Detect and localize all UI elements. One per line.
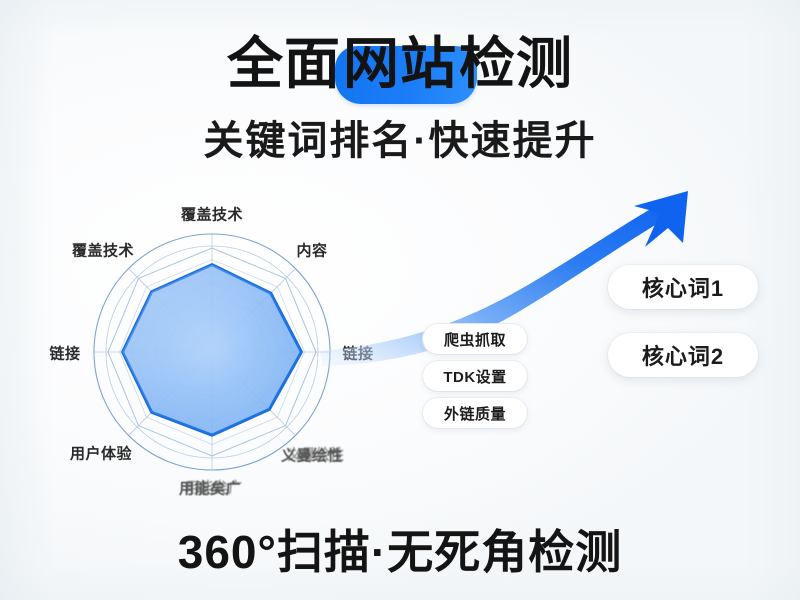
pill-label: 爬虫抓取 [444,329,506,350]
radar-axis-label: 义曼绘性义曼绘性 [281,447,343,466]
radar-axis-label-ghost: 义曼绘性 [287,446,344,465]
title-part-after: 检测 [459,32,573,95]
title-part-highlighted: 网站 [341,32,459,95]
radar-axis-label: 覆盖技术 [181,206,243,225]
feature-pill[interactable]: TDK设置 [423,361,527,391]
radar-chart: 覆盖技术内容链接义曼绘性义曼绘性用能矣广用能矣广用户体验链接覆盖技术 [10,190,430,510]
poster-canvas: 全面网站检测 关键词排名·快速提升 覆盖 [0,0,800,600]
feature-pill[interactable]: 外链质量 [423,398,527,428]
page-subtitle: 关键词排名·快速提升 [203,114,596,168]
radar-axis-label-ghost: 用能矣广 [185,479,242,498]
pill-label: 核心词2 [642,339,724,371]
keyword-pill[interactable]: 核心词2 [608,333,758,377]
pill-label: TDK设置 [443,366,506,387]
footer-tagline: 360°扫描·无死角检测 [178,522,622,582]
keyword-pill[interactable]: 核心词1 [608,265,758,309]
headline-container: 全面网站检测 [0,28,800,100]
title-part-before: 全面 [227,32,341,95]
radar-axis-label: 链接 [342,345,373,364]
radar-axis-label: 内容 [296,242,327,261]
pill-label: 核心词1 [642,271,724,303]
page-title: 全面网站检测 [227,28,573,100]
radar-axis-label: 用能矣广用能矣广 [179,480,241,499]
subheadline-container: 关键词排名·快速提升 [0,114,800,168]
radar-axis-label: 用户体验 [70,445,132,464]
pill-label: 外链质量 [444,403,506,424]
radar-series-layer [123,265,302,436]
radar-axis-label: 链接 [49,345,80,364]
radar-axis-label: 覆盖技术 [72,242,134,261]
arrow-head [634,191,688,247]
footer-container: 360°扫描·无死角检测 [0,522,800,582]
feature-pill[interactable]: 爬虫抓取 [423,324,527,354]
